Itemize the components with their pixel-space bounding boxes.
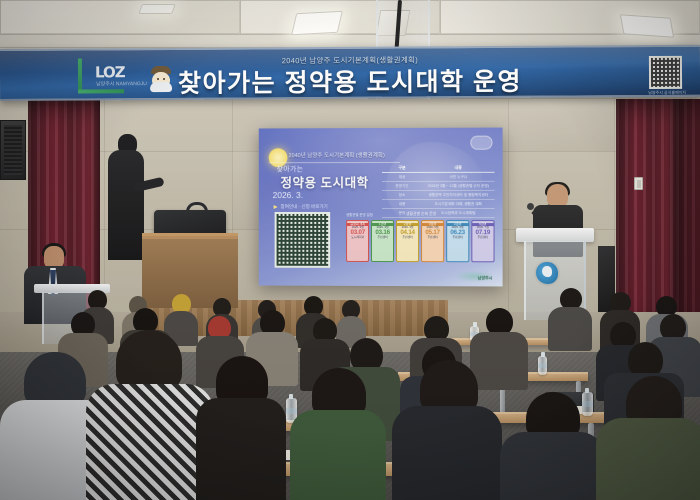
photo-scene: LOZ 남양주시 NAMYANGJU 2040년 남양주 도시기본계획(생활권계… <box>0 0 700 500</box>
event-banner: LOZ 남양주시 NAMYANGJU 2040년 남양주 도시기본계획(생활권계… <box>0 45 700 101</box>
speaker-grill <box>4 125 22 175</box>
schedule-card: 5권역2026. 7월07.19주민센터 <box>471 220 495 262</box>
table-row: 내용 도시기본계획 이해, 생활권 계획 <box>382 200 495 209</box>
table-cell: 시민 누구나 <box>422 174 494 179</box>
table-row: 문의 도시정책과 도시계획팀 <box>382 209 495 218</box>
slide-info-table: 구분 내용 대상 시민 누구나 운영기간 2026년 3월 ~ 12월 (생활권… <box>382 164 495 218</box>
table-header-row: 구분 내용 <box>382 164 495 173</box>
banner-title: 찾아가는 정약용 도시대학 운영 <box>0 61 700 101</box>
table-cell: 2026년 3월 ~ 12월 (생활권별 순차 운영) <box>422 183 494 188</box>
ceiling-light <box>620 14 674 37</box>
schedule-caption-right: 생활권별 순회 운영 <box>406 212 436 217</box>
schedule-card: 3권역2026. 5월05.17주민센터 <box>421 220 445 262</box>
slide-header: 2040년 남양주 도시기본계획 (생활권계획) <box>288 151 384 159</box>
schedule-card-bottom: 주민센터 <box>397 236 418 239</box>
schedule-caption-left: 생활권별 운영 일정 <box>346 212 373 217</box>
schedule-card: 1권역2026. 3월03.16주민센터 <box>371 220 394 262</box>
table-cell: 도시기본계획 이해, 생활권 계획 <box>422 201 494 206</box>
standing-person <box>108 150 144 260</box>
schedule-card: 2권역2026. 4월04.14주민센터 <box>396 220 419 262</box>
water-bottle <box>538 356 547 375</box>
slide-city-logo <box>470 136 492 150</box>
table-cell: 대상 <box>382 174 422 179</box>
banner-qr-code <box>649 56 682 89</box>
audience-member-foreground <box>596 376 700 500</box>
microphone-head <box>527 203 534 210</box>
schedule-card-list: 공청회 개최2026. 3월03.07도시계획과1권역2026. 3월03.16… <box>346 220 494 262</box>
ceiling <box>0 0 700 52</box>
banner-qr-caption: 남양주시 공식홈페이지 <box>648 90 686 96</box>
podium-emblem-icon <box>536 262 558 284</box>
schedule-card: 4권역2026. 6월06.23주민센터 <box>446 220 470 262</box>
audience-member <box>548 288 592 348</box>
slide-bullet-icon <box>274 205 278 209</box>
presentation-slide: 2040년 남양주 도시기본계획 (생활권계획) 찾아가는 정약용 도시대학 2… <box>259 128 503 287</box>
schedule-card-bottom: 주민센터 <box>447 237 469 240</box>
ceiling-light <box>138 4 176 14</box>
schedule-card-bottom: 주민센터 <box>372 236 393 239</box>
schedule-card: 공청회 개최2026. 3월03.07도시계획과 <box>346 220 369 262</box>
slide-qr-code <box>275 212 331 268</box>
table-cell: 운영기간 <box>382 183 422 188</box>
wall-speaker <box>0 120 26 180</box>
table-cell: 생활권역 주민자치센터 및 행정복지센터 <box>422 192 494 197</box>
schedule-card-bottom: 주민센터 <box>472 237 494 240</box>
slide-title-line2: 정약용 도시대학 <box>281 172 369 191</box>
schedule-card-bottom: 주민센터 <box>422 236 444 239</box>
audience-member-foreground <box>500 392 604 500</box>
podium-top <box>516 228 594 242</box>
projection-screen: 2040년 남양주 도시기본계획 (생활권계획) 찾아가는 정약용 도시대학 2… <box>259 128 503 287</box>
slide-footer-label: 남양주시 <box>478 275 493 281</box>
schedule-card-bottom: 도시계획과 <box>347 236 368 239</box>
audience-member-foreground <box>86 330 214 500</box>
table-header-cell: 구분 <box>382 165 422 171</box>
slide-schedule: 생활권별 운영 일정 생활권별 순회 운영 공청회 개최2026. 3월03.0… <box>346 218 494 264</box>
audience-member-foreground <box>290 368 386 500</box>
audience-member-foreground <box>196 356 286 500</box>
table-cell: 내용 <box>382 201 422 206</box>
table-row: 장소 생활권역 주민자치센터 및 행정복지센터 <box>382 191 495 200</box>
stage-curtain-right-far <box>676 99 700 314</box>
table-header-cell: 내용 <box>422 165 494 171</box>
table-cell: 장소 <box>382 192 422 197</box>
audience-member-foreground <box>392 360 502 500</box>
stage-curtain-right <box>616 99 676 314</box>
table-row: 대상 시민 누구나 <box>382 173 495 182</box>
slide-date: 2026. 3. <box>273 190 303 200</box>
table-row: 운영기간 2026년 3월 ~ 12월 (생활권별 순차 운영) <box>382 182 495 191</box>
slide-note: 참여안내 · 신청 바로가기 <box>281 204 328 210</box>
ceiling-light <box>291 11 343 35</box>
light-switch[interactable] <box>634 177 643 190</box>
